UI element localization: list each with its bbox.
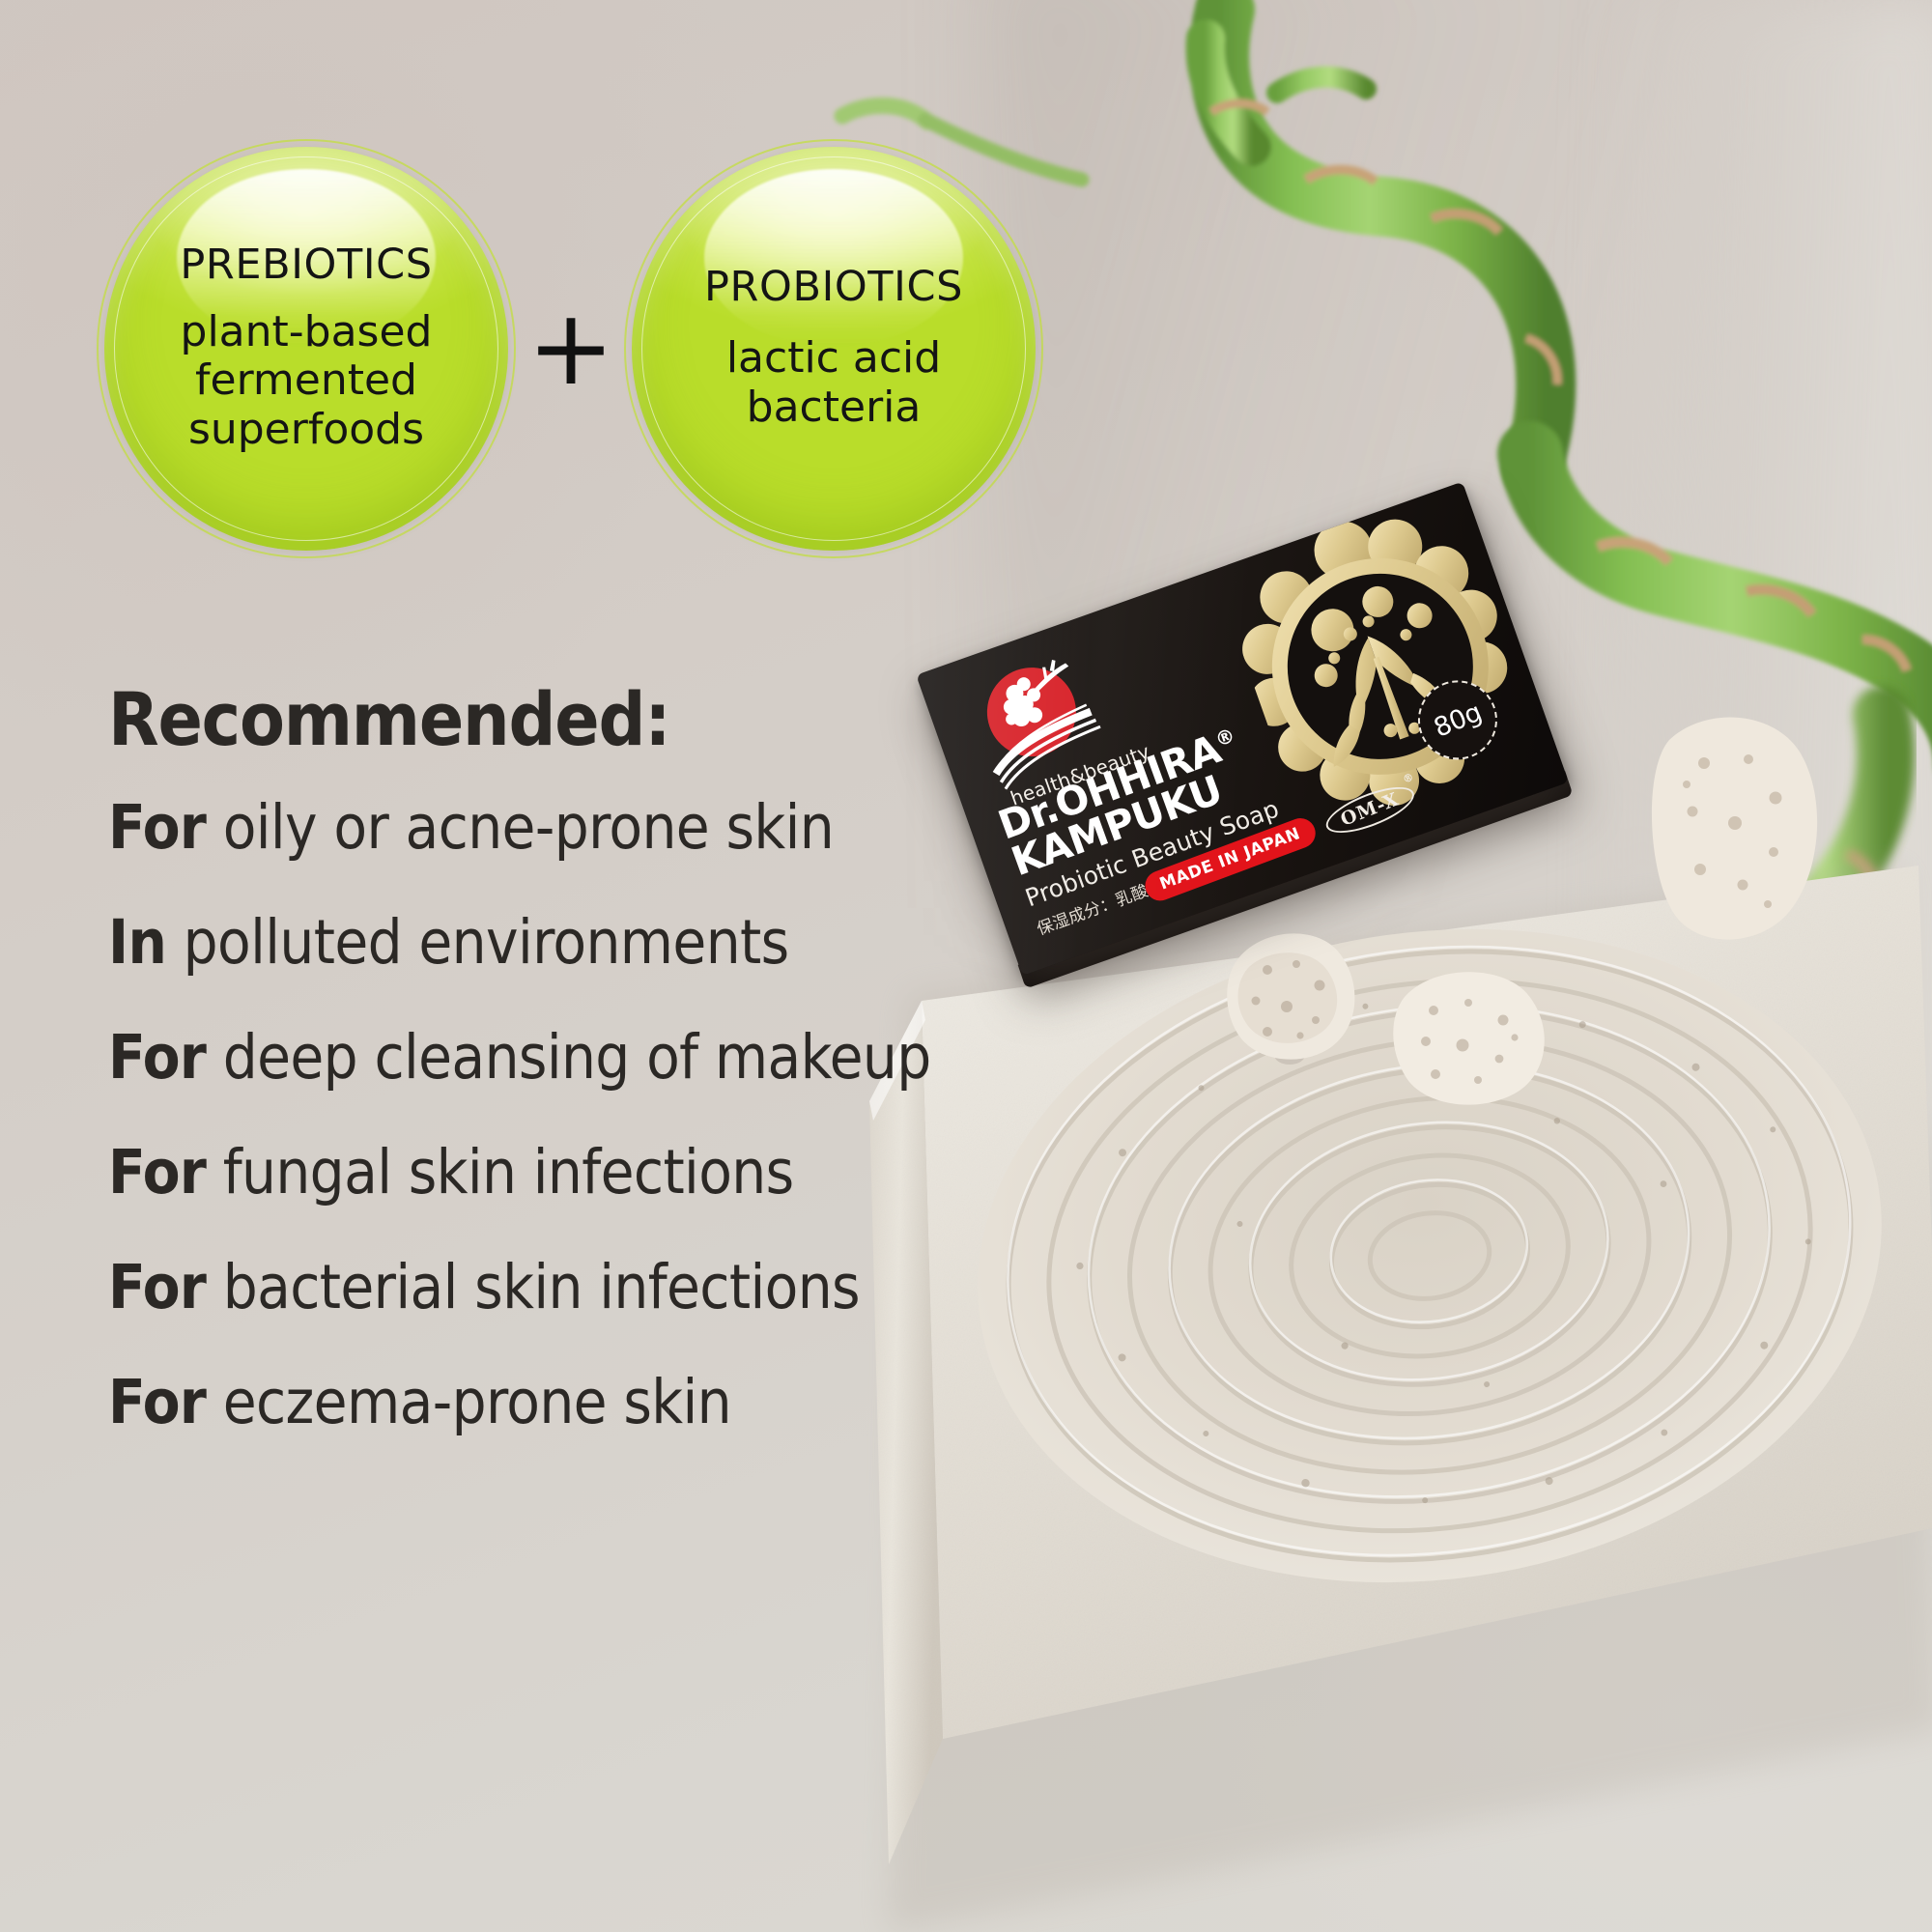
recommendation-lead-word: For: [108, 1252, 206, 1322]
recommendation-lead-word: For: [108, 1367, 206, 1437]
probiotics-line1: lactic acid: [726, 334, 941, 383]
recommendation-text: bacterial skin infections: [206, 1252, 860, 1322]
recommendation-item: For eczema-prone skin: [108, 1372, 1132, 1433]
recommendation-text: fungal skin infections: [206, 1137, 793, 1207]
recommendation-text: polluted environments: [166, 907, 788, 978]
recommendations-list: For oily or acne-prone skinIn polluted e…: [108, 797, 1132, 1433]
recommendation-item: For oily or acne-prone skin: [108, 797, 1132, 858]
prebiotics-description: plant-based fermented superfoods: [181, 308, 433, 453]
recommendation-item: For bacterial skin infections: [108, 1257, 1132, 1318]
prebiotics-line2: fermented: [181, 356, 433, 405]
prebiotics-title: PREBIOTICS: [180, 243, 432, 287]
prebiotics-line3: superfoods: [181, 406, 433, 454]
prebiotics-line1: plant-based: [181, 308, 433, 356]
recommendation-item: For deep cleansing of makeup: [108, 1027, 1132, 1088]
recommendations-heading: Recommended:: [108, 676, 1132, 762]
recommendation-text: eczema-prone skin: [206, 1367, 731, 1437]
promo-canvas: 80g: [0, 0, 1932, 1932]
probiotics-title: PROBIOTICS: [704, 266, 963, 309]
probiotics-description: lactic acid bacteria: [726, 334, 941, 431]
recommendation-item: In polluted environments: [108, 912, 1132, 973]
prebiotics-bubble: PREBIOTICS plant-based fermented superfo…: [104, 147, 508, 551]
recommendation-lead-word: For: [108, 1137, 206, 1207]
net-weight-value: 80g: [1430, 696, 1486, 743]
recommendation-item: For fungal skin infections: [108, 1142, 1132, 1203]
plus-icon: +: [529, 307, 612, 390]
recommendation-text: oily or acne-prone skin: [206, 792, 834, 863]
probiotics-line2: bacteria: [726, 384, 941, 432]
recommendation-lead-word: In: [108, 907, 166, 978]
recommendation-lead-word: For: [108, 1022, 206, 1093]
probiotics-bubble: PROBIOTICS lactic acid bacteria: [632, 147, 1036, 551]
recommendation-lead-word: For: [108, 792, 206, 863]
recommendations-section: Recommended: For oily or acne-prone skin…: [108, 676, 1132, 1487]
recommendation-text: deep cleansing of makeup: [206, 1022, 930, 1093]
